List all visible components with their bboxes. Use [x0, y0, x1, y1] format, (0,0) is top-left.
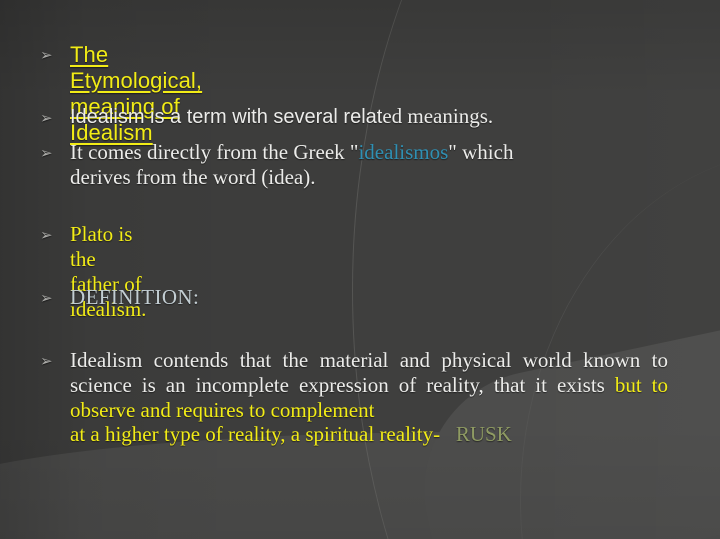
bullet-arrow-icon: ➢ [40, 354, 62, 369]
greek-origin-part2: " which [448, 140, 513, 164]
greek-origin-text: It comes directly from the Greek "ideali… [70, 140, 670, 190]
bullet-arrow-icon: ➢ [40, 228, 62, 243]
bullet-arrow-icon: ➢ [40, 111, 62, 126]
greek-origin-line2: derives from the word (idea). [70, 165, 670, 190]
contends-line1: Idealism contends that the material and … [70, 348, 572, 372]
contends-paragraph: Idealism contends that the material and … [70, 348, 668, 447]
contends-attribution: RUSK [440, 422, 512, 446]
slide-content: ➢ The Etymological, meaning of Idealism … [0, 0, 720, 539]
greek-word-idealismos: idealismos [358, 140, 448, 164]
bullet-arrow-icon: ➢ [40, 291, 62, 306]
definition-intro-sans-part: Idealism is a term with several relat [70, 106, 382, 128]
definition-heading: DEFINITION: [70, 285, 199, 310]
definition-intro-text: Idealism is a term with several related … [70, 104, 493, 129]
contends-line4-highlight: at a higher type of reality, a spiritual… [70, 422, 440, 446]
definition-intro-serif-part: ed meanings. [382, 104, 493, 128]
slide-title: The Etymological, meaning of Idealism [70, 42, 202, 146]
contends-line3-white: that it exists [494, 373, 615, 397]
presentation-slide: ➢ The Etymological, meaning of Idealism … [0, 0, 720, 539]
bullet-arrow-icon: ➢ [40, 48, 62, 63]
greek-origin-part1: It comes directly from the Greek " [70, 140, 358, 164]
bullet-arrow-icon: ➢ [40, 146, 62, 161]
